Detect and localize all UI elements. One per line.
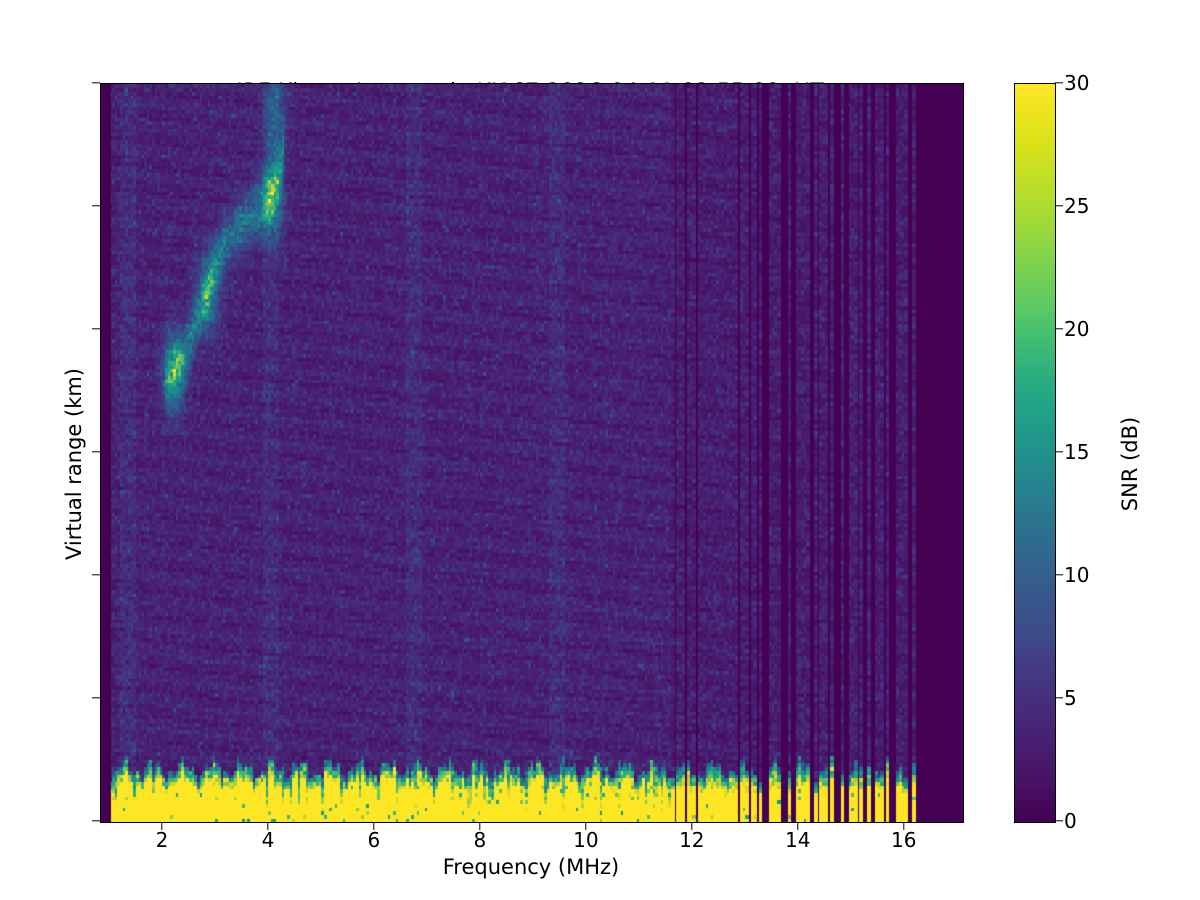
y-tick-mark: [92, 697, 100, 698]
colorbar-tick-mark: [1055, 205, 1063, 206]
colorbar-tick-label: 15: [1064, 440, 1089, 464]
x-tick-label: 4: [262, 828, 275, 852]
y-tick-mark: [92, 205, 100, 206]
colorbar-tick-label: 20: [1064, 317, 1089, 341]
x-tick-label: 2: [156, 828, 169, 852]
x-tick-label: 16: [891, 828, 916, 852]
y-axis-label: Virtual range (km): [62, 94, 86, 834]
y-tick-mark: [92, 82, 100, 83]
colorbar-tick-label: 25: [1064, 194, 1089, 218]
colorbar-tick-label: 30: [1064, 71, 1089, 95]
y-tick-mark: [92, 328, 100, 329]
x-tick-label: 8: [473, 828, 486, 852]
x-axis-label: Frequency (MHz): [100, 855, 962, 879]
y-tick-mark: [92, 820, 100, 821]
ionogram-heatmap: [101, 84, 963, 822]
colorbar-tick-mark: [1055, 328, 1063, 329]
colorbar: [1014, 83, 1056, 823]
colorbar-tick-label: 10: [1064, 563, 1089, 587]
x-tick-label: 6: [368, 828, 381, 852]
colorbar-tick-label: 5: [1064, 686, 1077, 710]
colorbar-tick-mark: [1055, 82, 1063, 83]
x-tick-label: 10: [573, 828, 598, 852]
colorbar-tick-label: 0: [1064, 809, 1077, 833]
colorbar-tick-mark: [1055, 574, 1063, 575]
ionogram-axes: [100, 83, 964, 823]
colorbar-tick-mark: [1055, 820, 1063, 821]
y-tick-mark: [92, 574, 100, 575]
colorbar-tick-mark: [1055, 451, 1063, 452]
y-tick-mark: [92, 451, 100, 452]
x-tick-label: 14: [785, 828, 810, 852]
ionogram-figure: IRF Kiruna Ionosonde KI167 2026-04-11 02…: [0, 0, 1200, 900]
colorbar-label: SNR (dB): [1118, 264, 1142, 664]
x-tick-label: 12: [679, 828, 704, 852]
colorbar-tick-mark: [1055, 697, 1063, 698]
